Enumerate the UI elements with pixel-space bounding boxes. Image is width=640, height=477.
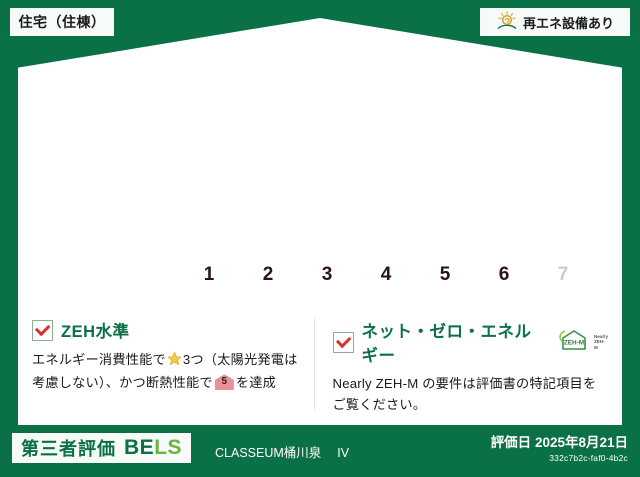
- zeh-m-sub-line2: ZEH-M: [594, 339, 605, 349]
- renewable-energy-tag: 再エネ設備あり: [480, 8, 630, 36]
- insulation-badge-value: 2: [263, 264, 274, 291]
- net-zero-title: ネット・ゼロ・エネルギー: [362, 318, 545, 366]
- bels-logo-part1: BE: [124, 436, 154, 459]
- zeh-body-part1: エネルギー消費性能で: [32, 352, 166, 367]
- insulation-badge-value: 6: [499, 264, 510, 291]
- criteria-panels: ZEH水準 エネルギー消費性能で3つ（太陽光発電は考慮しない）、かつ断熱性能で5…: [26, 318, 614, 410]
- evaluation-info: 評価日 2025年8月21日 332c7b2c-faf0-4b2c: [491, 431, 628, 463]
- bels-jp-text: 第三者評価: [21, 435, 116, 461]
- renewable-tag-text: 再エネ設備あり: [523, 13, 614, 32]
- zeh-standard-title: ZEH水準: [61, 318, 130, 342]
- inline-badge-value: 5: [215, 374, 234, 390]
- bels-logo-part2: LS: [154, 436, 182, 459]
- svg-text:ZEH-M: ZEH-M: [564, 339, 584, 346]
- zeh-m-house-icon: ZEH-M: [557, 329, 591, 356]
- building-type-tag: 住宅（住棟）: [10, 8, 114, 36]
- net-zero-header: ネット・ゼロ・エネルギー ZEH-M Nearly ZEH-M: [333, 318, 609, 366]
- insulation-badge-value: 3: [322, 264, 333, 291]
- check-icon: [32, 320, 53, 341]
- solar-sun-icon: [496, 11, 518, 34]
- evaluation-date: 評価日 2025年8月21日: [491, 431, 628, 451]
- bels-energy-label: 住宅（住棟） 再エネ設備あり 建築物省エネ法に基づく 省エネ性能ラベル: [0, 0, 640, 477]
- net-zero-energy-panel: ネット・ゼロ・エネルギー ZEH-M Nearly ZEH-M: [314, 318, 615, 410]
- zeh-body-part3: を達成: [236, 375, 276, 390]
- building-type-text: 住宅（住棟）: [19, 12, 106, 32]
- zeh-standard-header: ZEH水準: [32, 318, 308, 342]
- footer: 第三者評価 BELS CLASSEUM桶川泉IV 評価日 2025年8月21日 …: [0, 425, 640, 477]
- bels-logo-text: BELS: [124, 436, 182, 460]
- insulation-badge-value: 4: [381, 264, 392, 291]
- zeh-m-sub-text: Nearly ZEH-M: [594, 334, 608, 350]
- region-code: IV: [337, 446, 349, 460]
- net-zero-body: Nearly ZEH-M の要件は評価書の特記項目をご覧ください。: [333, 373, 609, 416]
- zeh-standard-panel: ZEH水準 エネルギー消費性能で3つ（太陽光発電は考慮しない）、かつ断熱性能で5…: [26, 318, 314, 410]
- inline-star-icon: [167, 351, 182, 372]
- insulation-badge-value: 5: [440, 264, 451, 291]
- bels-certification-mark: 第三者評価 BELS: [12, 433, 191, 463]
- building-info: CLASSEUM桶川泉IV: [215, 442, 349, 461]
- zeh-m-logo: ZEH-M Nearly ZEH-M: [557, 329, 608, 356]
- check-icon: [333, 332, 354, 353]
- zeh-m-sub-line1: Nearly: [594, 334, 608, 339]
- insulation-badge-value: 7: [558, 264, 569, 291]
- insulation-badge-value: 1: [204, 264, 215, 291]
- building-name: CLASSEUM桶川泉: [215, 446, 321, 460]
- inline-insulation-badge: 5: [215, 374, 234, 390]
- evaluation-id: 332c7b2c-faf0-4b2c: [491, 453, 628, 463]
- zeh-standard-body: エネルギー消費性能で3つ（太陽光発電は考慮しない）、かつ断熱性能で5を達成: [32, 349, 308, 394]
